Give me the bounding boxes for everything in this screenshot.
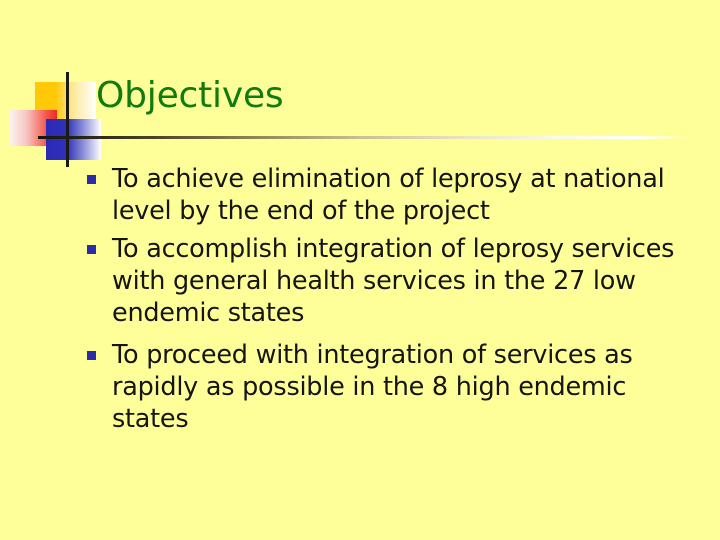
logo-vertical-line-icon — [66, 72, 69, 167]
list-item-text: To achieve elimination of leprosy at nat… — [112, 163, 686, 227]
design-logo — [0, 60, 110, 175]
list-item: To accomplish integration of leprosy ser… — [86, 233, 686, 329]
list-item: To achieve elimination of leprosy at nat… — [86, 163, 686, 227]
bullet-list: To achieve elimination of leprosy at nat… — [86, 163, 686, 441]
list-item-text: To accomplish integration of leprosy ser… — [112, 233, 686, 329]
slide-canvas: Objectives To achieve elimination of lep… — [0, 0, 720, 540]
list-item: To proceed with integration of services … — [86, 339, 686, 435]
list-item-text: To proceed with integration of services … — [112, 339, 686, 435]
bullet-square-icon — [87, 351, 96, 360]
page-title: Objectives — [96, 76, 283, 116]
logo-blue-square-icon — [46, 119, 101, 160]
bullet-square-icon — [87, 175, 96, 184]
bullet-square-icon — [87, 245, 96, 254]
title-divider-rule — [38, 136, 688, 139]
